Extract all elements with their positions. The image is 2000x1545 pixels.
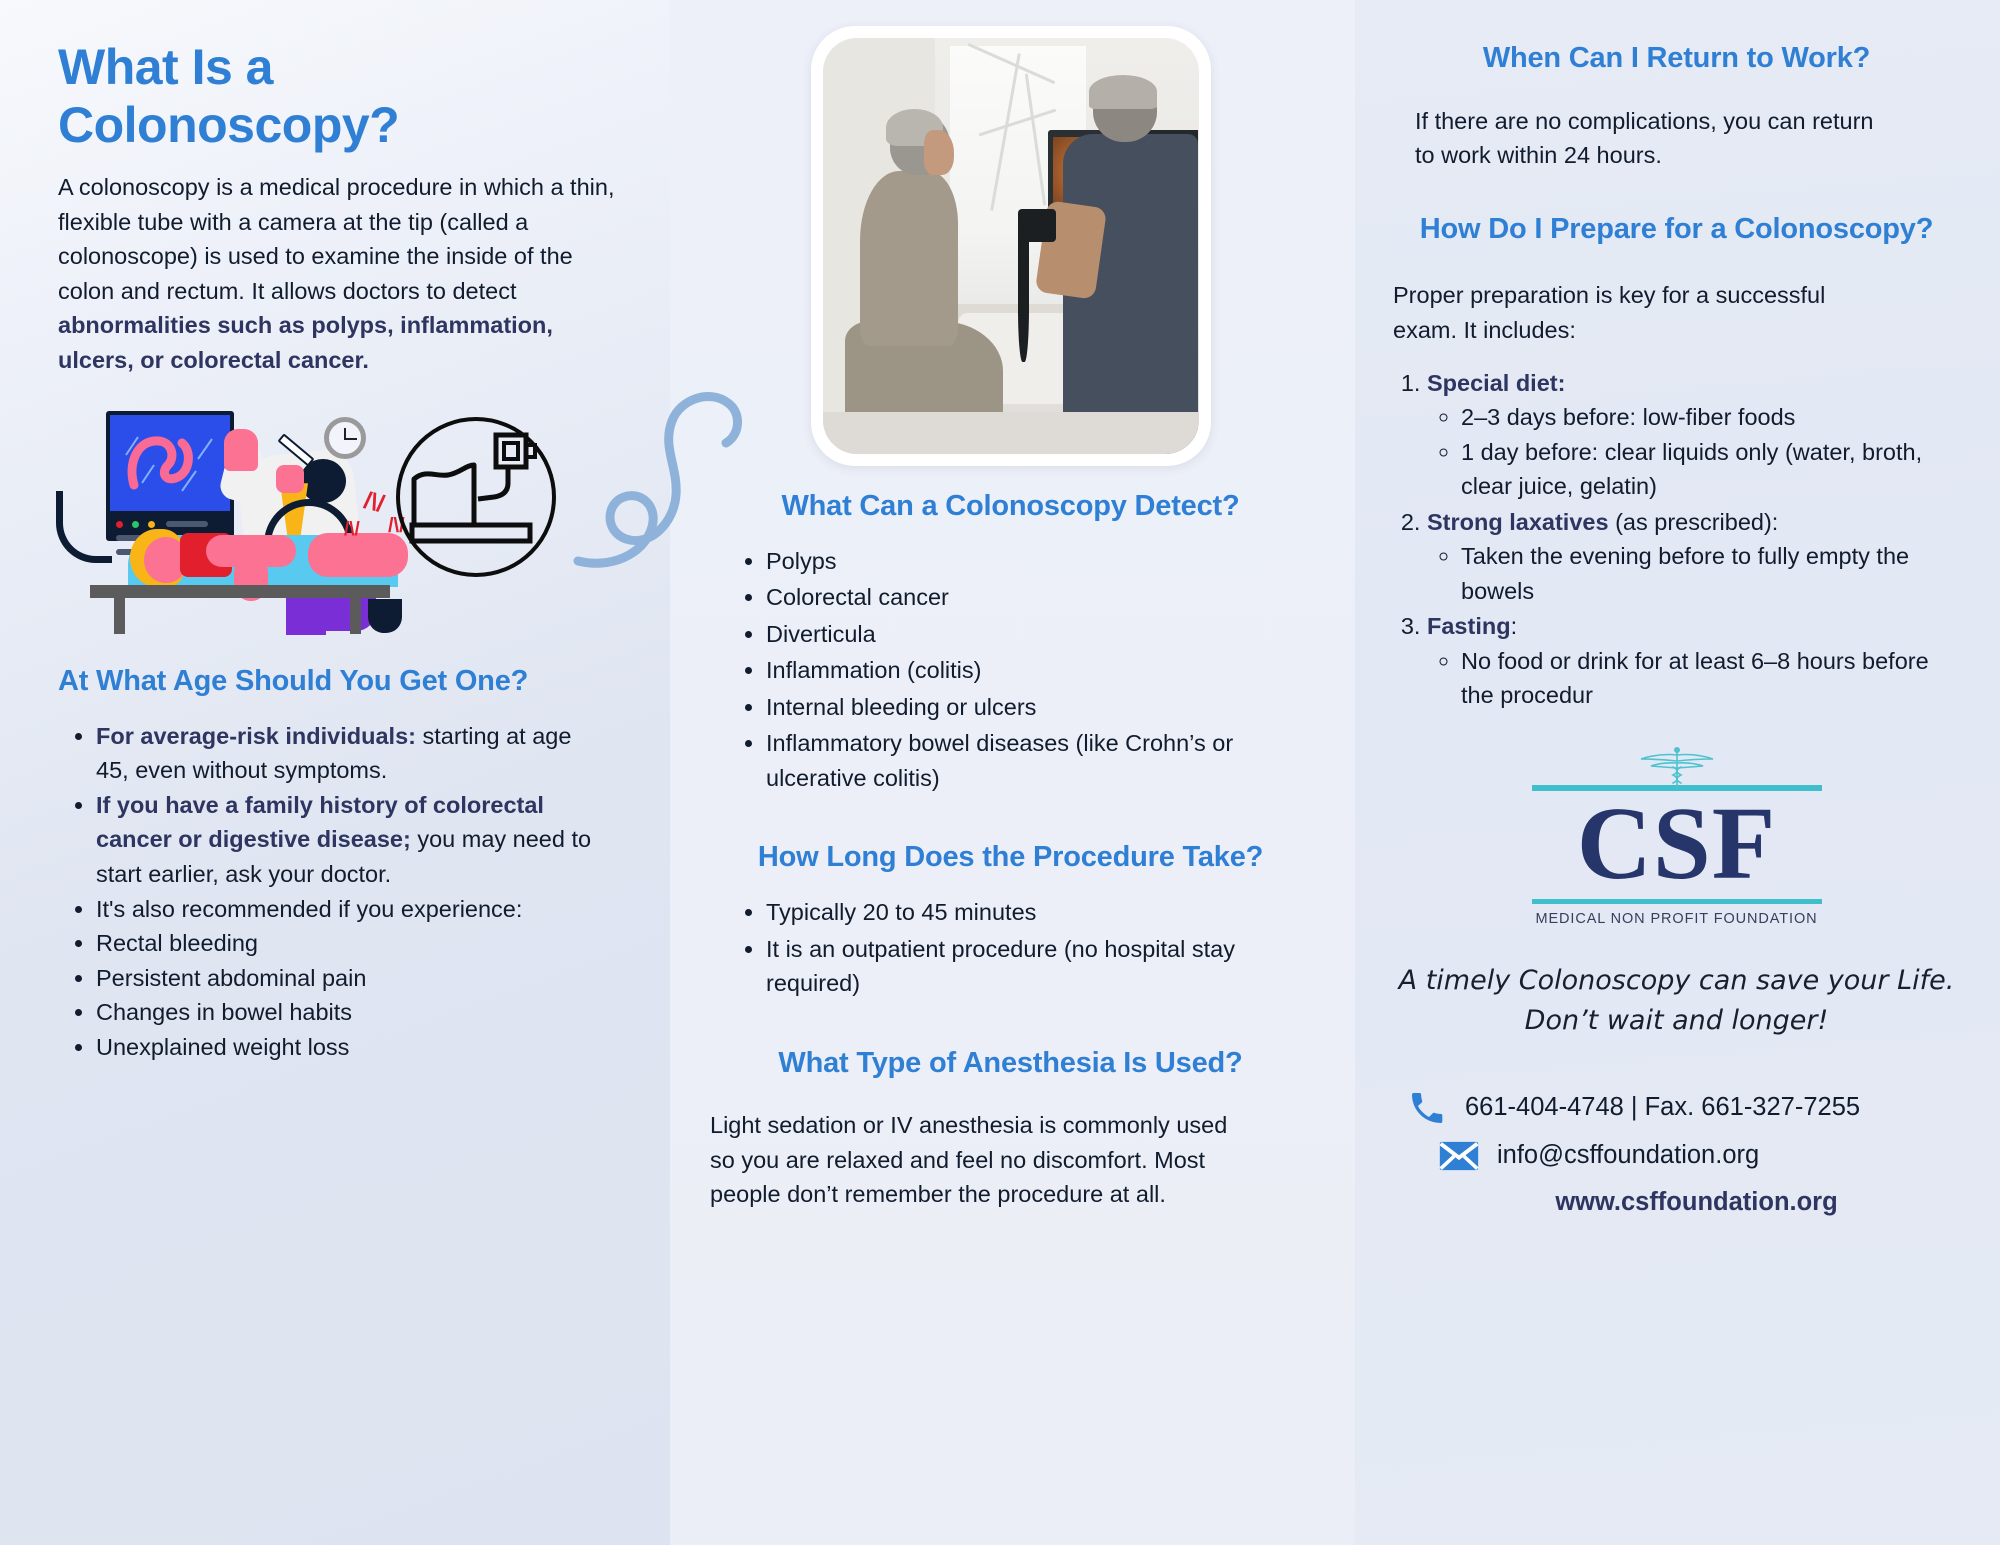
- bullet-plain: It's also recommended if you experience:: [96, 896, 522, 922]
- photo-image: [823, 38, 1199, 454]
- monitor-shape: [106, 411, 234, 541]
- list-item: Rectal bleeding: [96, 926, 598, 961]
- patient-leg-shape: [286, 595, 326, 635]
- list-item: Taken the evening before to fully empty …: [1461, 539, 1953, 608]
- list-item: Unexplained weight loss: [96, 1030, 598, 1065]
- exam-table-top: [90, 585, 390, 598]
- contact-block: 661-404-4748 | Fax. 661-327-7255 info@cs…: [1393, 1088, 1960, 1217]
- email-address: info@csffoundation.org: [1497, 1141, 1759, 1170]
- bullet-plain: Persistent abdominal pain: [96, 965, 366, 991]
- age-heading: At What Age Should You Get One?: [58, 663, 618, 701]
- anesthesia-paragraph: Light sedation or IV anesthesia is commo…: [710, 1108, 1240, 1212]
- bullet-plain: Changes in bowel habits: [96, 999, 352, 1025]
- list-item: For average-risk individuals: starting a…: [96, 719, 598, 788]
- tagline: A timely Colonoscopy can save your Life.…: [1393, 961, 1960, 1042]
- logo-monogram: CSF: [1532, 791, 1822, 897]
- intro-plain-text: A colonoscopy is a medical procedure in …: [58, 174, 614, 304]
- monitor-screen: [110, 415, 230, 511]
- return-to-work-body: If there are no complications, you can r…: [1393, 104, 1893, 173]
- website-url[interactable]: www.csffoundation.org: [1393, 1188, 1960, 1217]
- scope-cable-shape: [56, 491, 112, 563]
- list-item: Fasting: No food or drink for at least 6…: [1427, 609, 1953, 713]
- csf-logo: CSF MEDICAL NON PROFIT FOUNDATION: [1393, 747, 1960, 927]
- list-item: It is an outpatient procedure (no hospit…: [766, 932, 1248, 1001]
- tagline-line-1: A timely Colonoscopy can save your Life.: [1393, 961, 1960, 1002]
- substep-list: Taken the evening before to fully empty …: [1427, 539, 1953, 608]
- intro-paragraph: A colonoscopy is a medical procedure in …: [58, 170, 618, 377]
- step-plain: :: [1511, 613, 1518, 639]
- duration-bullet-list: Typically 20 to 45 minutes It is an outp…: [728, 895, 1248, 1001]
- monitor-led-green: [132, 521, 139, 528]
- page-title: What Is a Colonoscopy?: [58, 38, 626, 154]
- step-plain: (as prescribed):: [1609, 509, 1779, 535]
- list-item: Typically 20 to 45 minutes: [766, 895, 1248, 930]
- clock-icon: [324, 417, 366, 459]
- squiggle-decoration-icon: [570, 355, 800, 585]
- phone-icon: [1407, 1088, 1447, 1128]
- tagline-line-2: Don’t wait and longer!: [1393, 1001, 1960, 1042]
- step-bold: Fasting: [1427, 613, 1511, 639]
- list-item: Colorectal cancer: [766, 580, 1248, 615]
- anesthesia-heading: What Type of Anesthesia Is Used?: [710, 1045, 1311, 1083]
- logo-subtitle: MEDICAL NON PROFIT FOUNDATION: [1532, 911, 1822, 927]
- bullet-plain: Unexplained weight loss: [96, 1034, 349, 1060]
- photo-scope-tube: [1018, 229, 1029, 362]
- bullet-plain: Rectal bleeding: [96, 930, 258, 956]
- exam-table-leg-right: [350, 598, 361, 634]
- contact-phone-row[interactable]: 661-404-4748 | Fax. 661-327-7255: [1393, 1088, 1960, 1128]
- doctor-hand-shape: [276, 465, 304, 493]
- step-bold: Strong laxatives: [1427, 509, 1609, 535]
- age-bullet-list: For average-risk individuals: starting a…: [58, 719, 598, 1064]
- exam-table-leg-left: [114, 598, 125, 634]
- list-item: Changes in bowel habits: [96, 995, 598, 1030]
- photo-branch: [991, 53, 1022, 211]
- colon-graphic-icon: [120, 425, 220, 500]
- photo-branch: [979, 108, 1057, 136]
- photo-branch: [1025, 73, 1046, 205]
- doctor-glove-shape: [224, 429, 258, 471]
- list-item: 2–3 days before: low-fiber foods: [1461, 400, 1953, 435]
- logo-box: CSF MEDICAL NON PROFIT FOUNDATION: [1532, 747, 1822, 927]
- pain-zap-icon-3: /\/: [344, 519, 360, 541]
- photo-floor: [823, 412, 1199, 454]
- prepare-heading: How Do I Prepare for a Colonoscopy?: [1393, 211, 1960, 249]
- patient-foot-shape: [368, 599, 402, 633]
- list-item: No food or drink for at least 6–8 hours …: [1461, 644, 1953, 713]
- panel-left: What Is a Colonoscopy? A colonoscopy is …: [0, 0, 670, 1545]
- envelope-icon: [1439, 1140, 1479, 1172]
- monitor-led-red: [116, 521, 123, 528]
- monitor-led-yellow: [148, 521, 155, 528]
- list-item: Polyps: [766, 544, 1248, 579]
- bullet-bold: For average-risk individuals:: [96, 723, 416, 749]
- return-to-work-heading: When Can I Return to Work?: [1393, 40, 1960, 78]
- brochure-page: What Is a Colonoscopy? A colonoscopy is …: [0, 0, 2000, 1545]
- detect-bullet-list: Polyps Colorectal cancer Diverticula Inf…: [728, 544, 1248, 796]
- photo-patient-face: [924, 130, 954, 176]
- intro-bold-text: abnormalities such as polyps, inflammati…: [58, 312, 553, 373]
- probe-diagram-icon: [400, 421, 552, 573]
- list-item: It's also recommended if you experience:: [96, 892, 598, 927]
- panel-right: When Can I Return to Work? If there are …: [1355, 0, 2000, 1545]
- detect-heading: What Can a Colonoscopy Detect?: [710, 488, 1311, 526]
- list-item: Inflammatory bowel diseases (like Crohn’…: [766, 726, 1248, 795]
- list-item: If you have a family history of colorect…: [96, 788, 598, 892]
- prepare-intro: Proper preparation is key for a successf…: [1393, 278, 1833, 347]
- substep-list: No food or drink for at least 6–8 hours …: [1427, 644, 1953, 713]
- photo-patient-body: [860, 171, 958, 346]
- list-item: Special diet: 2–3 days before: low-fiber…: [1427, 366, 1953, 504]
- colonoscopy-procedure-illustration: /\/ /\/ /\/: [68, 403, 628, 633]
- substep-list: 2–3 days before: low-fiber foods 1 day b…: [1427, 400, 1953, 504]
- list-item: Persistent abdominal pain: [96, 961, 598, 996]
- pain-zap-icon-1: /\/: [361, 487, 387, 519]
- phone-number: 661-404-4748 | Fax. 661-327-7255: [1465, 1093, 1860, 1122]
- duration-heading: How Long Does the Procedure Take?: [710, 839, 1311, 877]
- photo-branch: [967, 43, 1055, 84]
- list-item: Internal bleeding or ulcers: [766, 690, 1248, 725]
- procedure-diagram-circle: [396, 417, 556, 577]
- prepare-step-list: Special diet: 2–3 days before: low-fiber…: [1393, 366, 1953, 713]
- list-item: 1 day before: clear liquids only (water,…: [1461, 435, 1953, 504]
- endoscopy-room-photo: [811, 26, 1211, 466]
- list-item: Inflammation (colitis): [766, 653, 1248, 688]
- step-bold: Special diet:: [1427, 370, 1565, 396]
- contact-email-row[interactable]: info@csffoundation.org: [1393, 1140, 1960, 1172]
- list-item: Diverticula: [766, 617, 1248, 652]
- panel-middle: What Can a Colonoscopy Detect? Polyps Co…: [670, 0, 1355, 1545]
- list-item: Strong laxatives (as prescribed): Taken …: [1427, 505, 1953, 609]
- monitor-bar-1: [166, 521, 208, 527]
- photo-doctor-hair: [1089, 75, 1157, 108]
